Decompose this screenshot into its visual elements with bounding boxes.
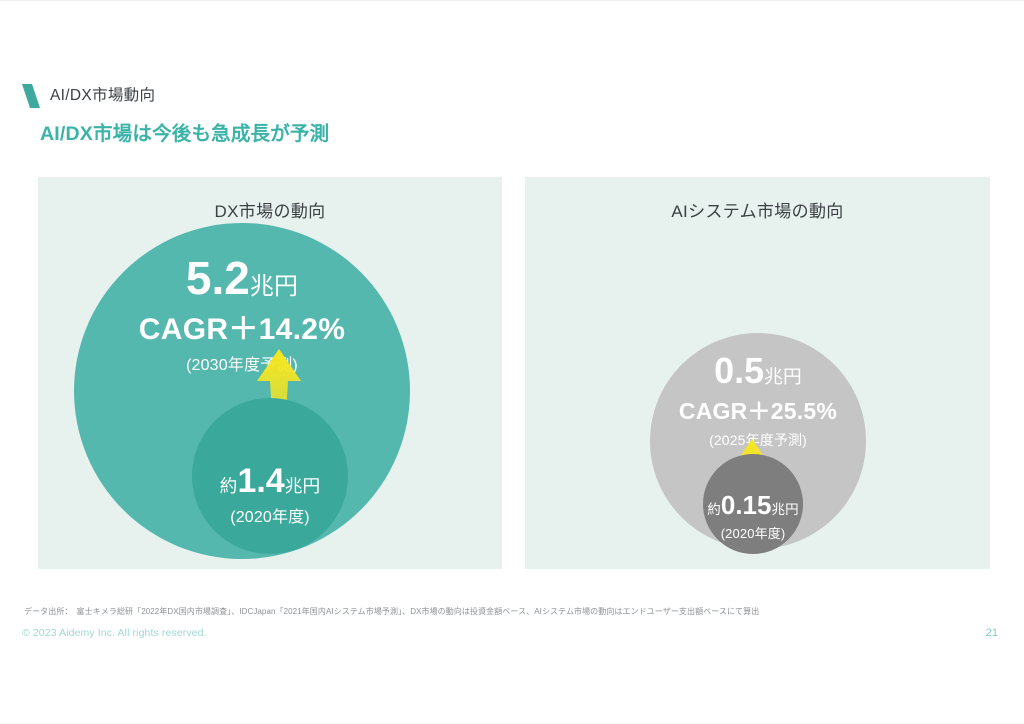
- bubble-ai-forecast-cagr: CAGR＋25.5%: [679, 400, 837, 423]
- eyebrow: AI/DX市場動向: [22, 83, 155, 109]
- bubble-ai-forecast-value: 0.5兆円: [714, 353, 802, 389]
- slide: AI/DX市場動向 AI/DX市場は今後も急成長が予測 DX市場の動向 5.2兆…: [0, 0, 1024, 724]
- bubble-ai-actual-value: 約0.15兆円: [707, 492, 799, 518]
- bubble-ai-actual: 約0.15兆円 (2020年度): [703, 454, 803, 554]
- panel-title-dx: DX市場の動向: [38, 197, 502, 222]
- value-number: 1.4: [237, 462, 284, 500]
- panel-title-ai: AIシステム市場の動向: [525, 197, 990, 222]
- slash-mark-icon: [22, 83, 40, 109]
- page-title: AI/DX市場は今後も急成長が予測: [40, 117, 329, 146]
- bubble-ai-actual-note: (2020年度): [721, 527, 786, 540]
- value-unit: 兆円: [771, 502, 798, 517]
- bubble-dx-forecast-cagr: CAGR＋14.2%: [139, 315, 345, 345]
- value-number: 0.15: [721, 490, 772, 520]
- value-number: 0.5: [714, 350, 764, 391]
- value-unit: 兆円: [285, 476, 321, 496]
- copyright: © 2023 Aidemy Inc. All rights reserved.: [22, 627, 207, 639]
- bubble-dx-actual-value: 約1.4兆円: [220, 464, 321, 498]
- bubble-dx-actual-note: (2020年度): [230, 510, 310, 526]
- value-unit: 兆円: [250, 273, 298, 300]
- value-prefix: 約: [220, 476, 238, 496]
- page-number: 21: [986, 627, 998, 639]
- value-unit: 兆円: [764, 366, 802, 387]
- bubble-dx-forecast-value: 5.2兆円: [186, 255, 298, 301]
- value-prefix: 約: [707, 502, 721, 517]
- bubble-dx-actual: 約1.4兆円 (2020年度): [192, 398, 348, 554]
- eyebrow-label: AI/DX市場動向: [50, 88, 155, 104]
- source-note: データ出所： 富士キメラ総研「2022年DX国内市場調査」、IDCJapan「2…: [24, 606, 759, 617]
- value-number: 5.2: [186, 252, 250, 304]
